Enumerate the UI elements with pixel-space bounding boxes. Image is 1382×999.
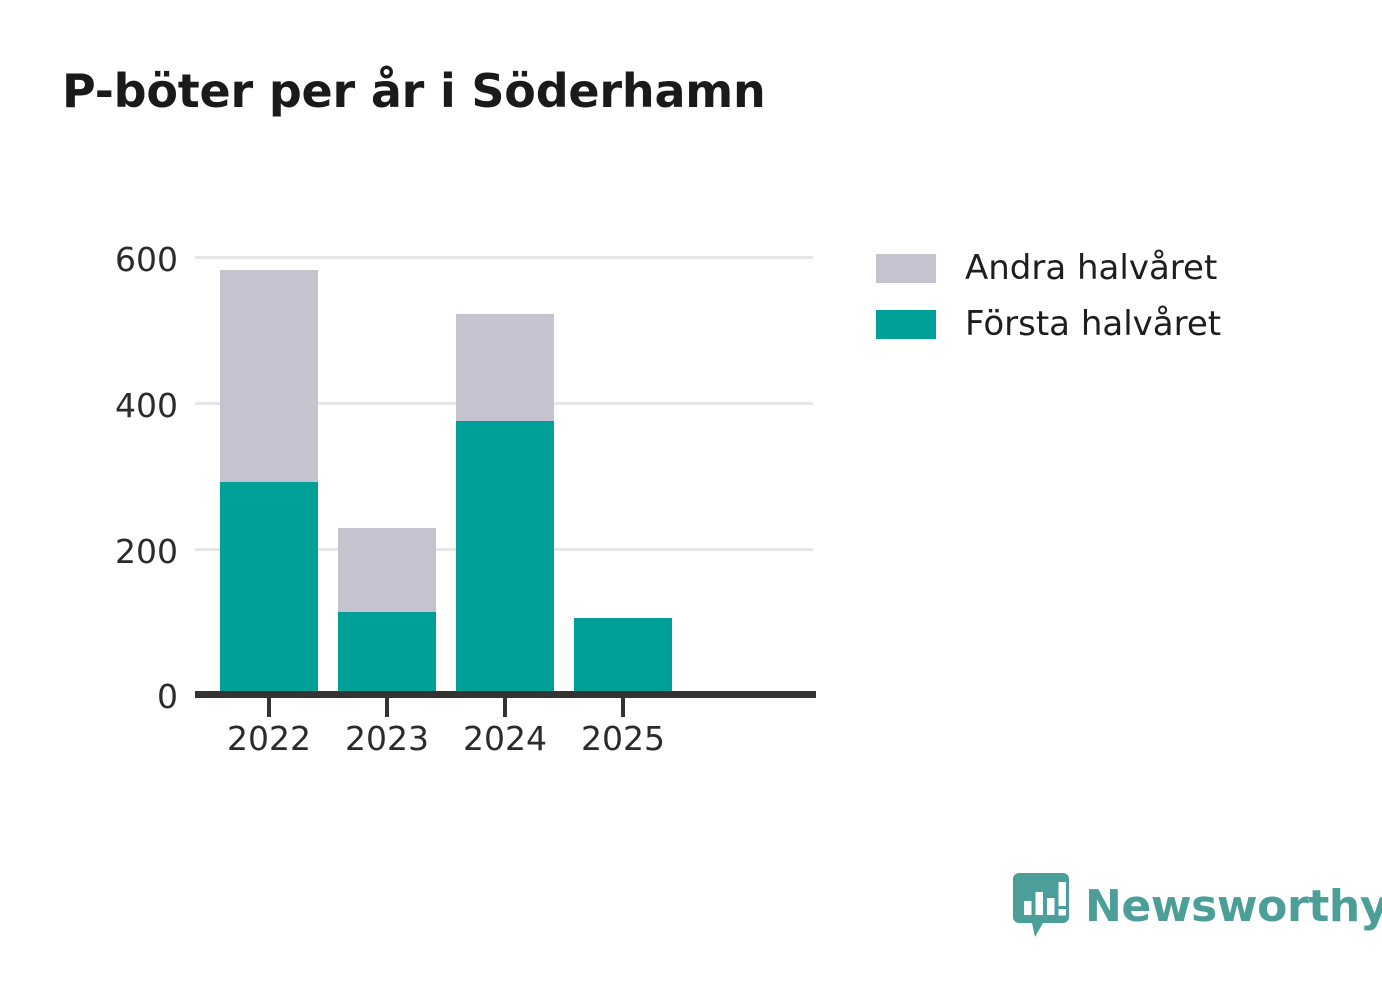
newsworthy-logo[interactable]: Newsworthy	[1013, 873, 1382, 939]
legend-item-forsta-halvaret[interactable]: Första halvåret	[876, 296, 1221, 352]
x-tick-mark-2023	[385, 698, 389, 717]
bar-segment-2024-forsta-halvaret[interactable]	[456, 421, 554, 694]
newsworthy-wordmark: Newsworthy	[1085, 881, 1382, 932]
bar-segment-2024-andra-halvaret[interactable]	[456, 314, 554, 421]
x-tick-label-2025: 2025	[553, 719, 693, 758]
gridline-600	[195, 256, 813, 259]
bar-group-2023[interactable]	[338, 528, 436, 694]
x-tick-mark-2025	[621, 698, 625, 717]
y-tick-label-600: 600	[58, 240, 178, 279]
legend-item-andra-halvaret[interactable]: Andra halvåret	[876, 240, 1221, 296]
x-axis-line	[195, 691, 816, 698]
x-tick-mark-2024	[503, 698, 507, 717]
y-tick-label-0: 0	[58, 677, 178, 716]
bar-segment-2023-andra-halvaret[interactable]	[338, 528, 436, 612]
legend-label-andra-halvaret: Andra halvåret	[965, 248, 1217, 288]
bar-segment-2025-forsta-halvaret[interactable]	[574, 618, 672, 694]
bar-segment-2022-andra-halvaret[interactable]	[220, 270, 318, 482]
bar-segment-2023-forsta-halvaret[interactable]	[338, 612, 436, 694]
y-tick-label-400: 400	[58, 386, 178, 425]
legend-swatch-forsta-halvaret	[876, 310, 936, 339]
bar-group-2025[interactable]	[574, 618, 672, 694]
bar-segment-2022-forsta-halvaret[interactable]	[220, 482, 318, 694]
bar-group-2022[interactable]	[220, 270, 318, 694]
legend-label-forsta-halvaret: Första halvåret	[965, 304, 1221, 344]
chart-plot-area: 600 400 200 0 2022 2023 2024 2025	[0, 0, 1382, 999]
legend-swatch-andra-halvaret	[876, 254, 936, 283]
chart-legend: Andra halvåret Första halvåret	[876, 240, 1221, 352]
bar-group-2024[interactable]	[456, 314, 554, 694]
newsworthy-speech-bubble-chart-icon	[1013, 873, 1069, 939]
y-tick-label-200: 200	[58, 532, 178, 571]
x-tick-mark-2022	[267, 698, 271, 717]
